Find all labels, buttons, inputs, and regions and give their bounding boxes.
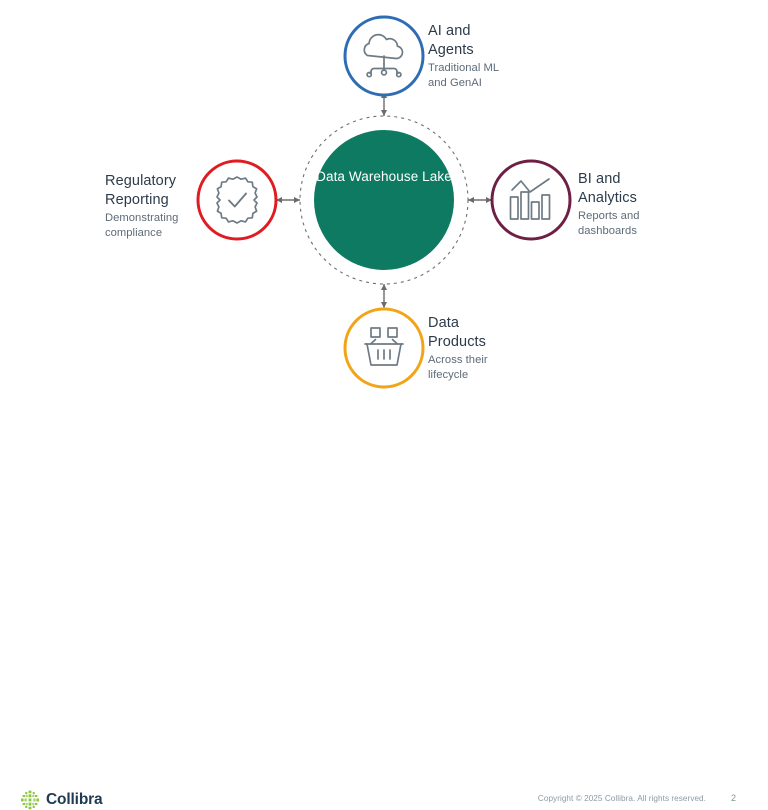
collibra-logo: Collibra [20,790,103,810]
collibra-logo-mark-icon [20,790,40,810]
node-title-ai-agents: AI and Agents [428,22,558,60]
node-title-bi-analytics: BI and Analytics [578,170,718,208]
slide-canvas: Data Warehouse Lake AI and Agents Tradit… [0,0,768,432]
node-subtitle-ai-agents: Traditional ML and GenAI [428,61,558,90]
node-subtitle-regulatory-reporting: Demonstrating compliance [105,211,225,240]
connector-left [276,197,300,203]
node-text-bi-analytics: BI and Analytics Reports and dashboards [578,170,718,238]
connector-bottom [381,284,387,308]
page-number: 2 [731,793,736,803]
node-ai-agents[interactable] [345,17,423,95]
collibra-logo-text: Collibra [46,791,103,809]
hub-circle [314,130,454,270]
node-text-ai-agents: AI and Agents Traditional ML and GenAI [428,22,558,90]
node-title-data-products: Data Products [428,314,558,352]
node-ring-bi-analytics [492,161,570,239]
node-ring-data-products [345,309,423,387]
node-title-regulatory-reporting: Regulatory Reporting [105,172,225,210]
copyright-text: Copyright © 2025 Collibra. All rights re… [538,794,706,803]
node-text-regulatory-reporting: Regulatory Reporting Demonstrating compl… [105,172,225,240]
node-data-products[interactable] [345,309,423,387]
slide-footer: Collibra Copyright © 2025 Collibra. All … [0,392,768,432]
hub-label: Data Warehouse Lake [316,168,452,186]
node-subtitle-bi-analytics: Reports and dashboards [578,209,718,238]
node-text-data-products: Data Products Across their lifecycle [428,314,558,382]
node-bi-analytics[interactable] [492,161,570,239]
connector-right [468,197,492,203]
node-subtitle-data-products: Across their lifecycle [428,353,558,382]
hub-and-spoke-diagram: Data Warehouse Lake AI and Agents Tradit… [0,0,768,400]
